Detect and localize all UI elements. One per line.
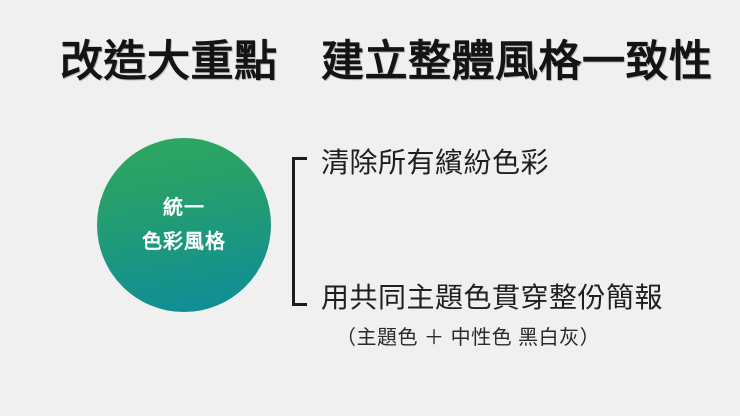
unified-color-style-circle: 統一 色彩風格 [97, 138, 271, 312]
circle-label-line-2: 色彩風格 [142, 227, 226, 257]
circle-label-line-1: 統一 [163, 193, 205, 223]
left-square-bracket-icon [292, 157, 307, 306]
bullet-item-1: 清除所有繽紛色彩 [321, 146, 549, 180]
bullet-item-2-subnote: （主題色 ＋ 中性色 黑白灰） [336, 325, 600, 351]
slide-title: 改造大重點 建立整體風格一致性 [60, 36, 700, 88]
slide-canvas: 改造大重點 建立整體風格一致性 統一 色彩風格 清除所有繽紛色彩 用共同主題色貫… [0, 0, 740, 416]
bullet-item-2: 用共同主題色貫穿整份簡報 [321, 281, 663, 315]
